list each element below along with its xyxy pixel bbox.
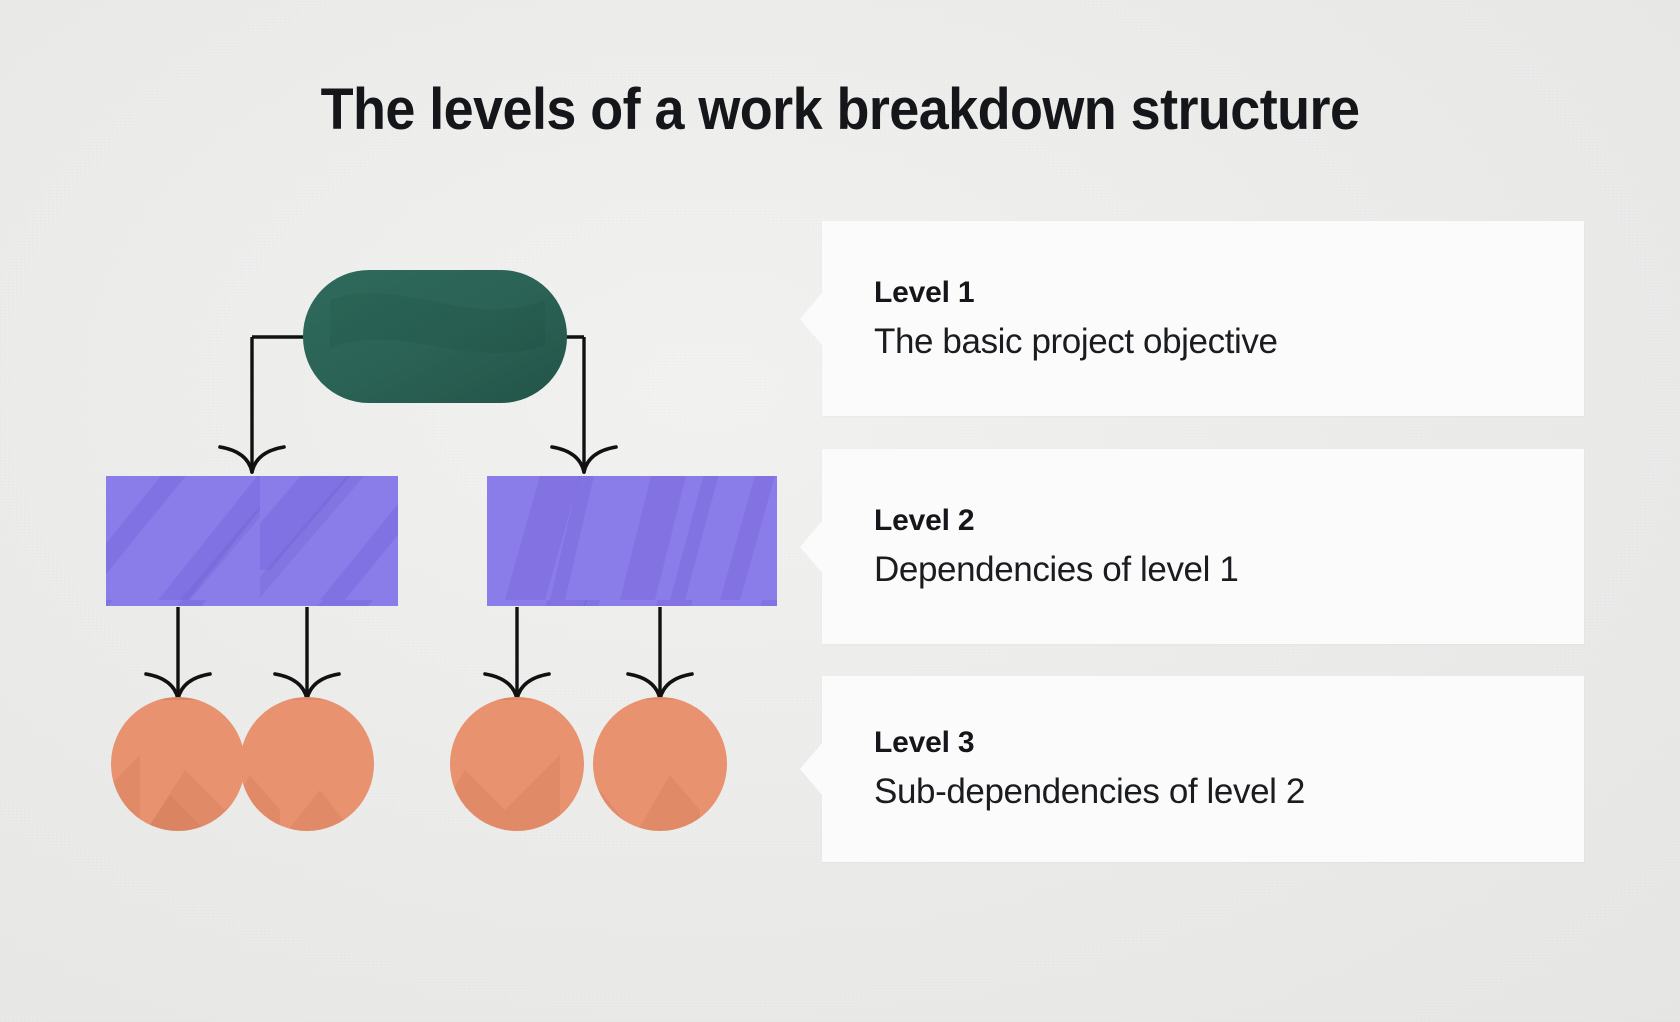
node-level3-circle-1 xyxy=(111,697,245,831)
node-level3-circle-4 xyxy=(593,697,727,831)
node-level3-circle-2 xyxy=(240,697,374,831)
node-level2-box-right xyxy=(487,476,777,606)
node-level2-box-left xyxy=(106,476,398,606)
legend-card-level-label: Level 1 xyxy=(874,275,1564,309)
legend-card-description: The basic project objective xyxy=(874,321,1564,361)
node-level3-circle-3 xyxy=(450,697,584,831)
infographic-canvas: The levels of a work breakdown structure xyxy=(0,0,1680,1022)
legend-card-level-1: Level 1 The basic project objective xyxy=(822,221,1584,416)
pointer-notch-icon xyxy=(800,743,822,795)
legend-card-level-label: Level 2 xyxy=(874,503,1564,537)
legend-card-description: Dependencies of level 1 xyxy=(874,549,1564,589)
pointer-notch-icon xyxy=(800,293,822,345)
legend-card-level-label: Level 3 xyxy=(874,726,1564,760)
legend-card-level-2: Level 2 Dependencies of level 1 xyxy=(822,449,1584,644)
legend-card-description: Sub-dependencies of level 2 xyxy=(874,772,1564,812)
pointer-notch-icon xyxy=(800,521,822,573)
legend-card-level-3: Level 3 Sub-dependencies of level 2 xyxy=(822,676,1584,862)
